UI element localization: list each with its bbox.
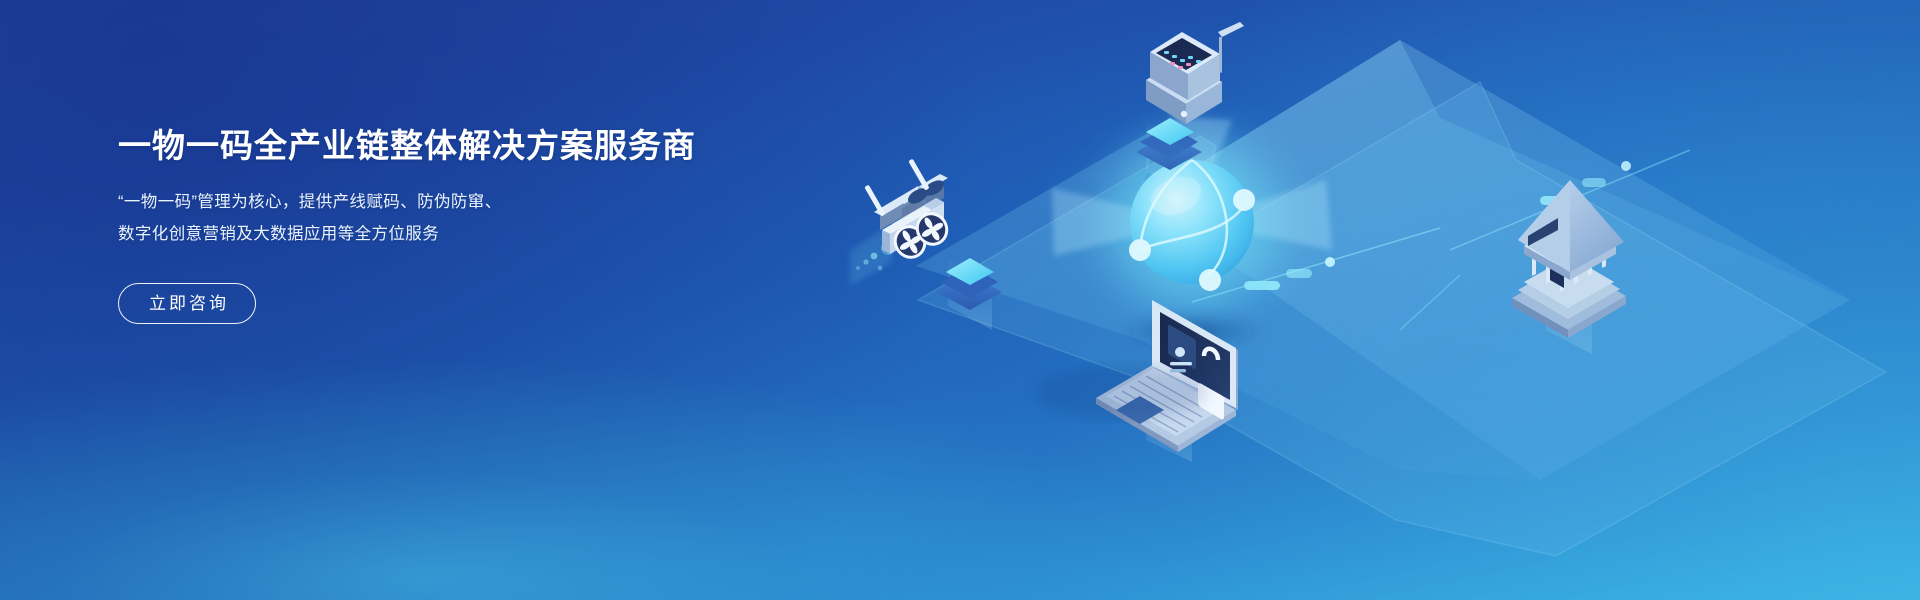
hero-subtitle-line-2: 数字化创意营销及大数据应用等全方位服务 xyxy=(118,218,758,250)
consult-now-button[interactable]: 立即咨询 xyxy=(118,283,256,324)
isometric-platform xyxy=(916,40,1886,556)
hero-copy-block: 一物一码全产业链整体解决方案服务商 “一物一码”管理为核心，提供产线赋码、防伪防… xyxy=(118,125,758,324)
cta-container: 立即咨询 xyxy=(118,283,758,324)
page-title: 一物一码全产业链整体解决方案服务商 xyxy=(118,125,758,166)
isometric-iot-network-illustration xyxy=(840,0,1920,600)
hero-subtitle-line-1: “一物一码”管理为核心，提供产线赋码、防伪防窜、 xyxy=(118,186,758,218)
hero-banner: 一物一码全产业链整体解决方案服务商 “一物一码”管理为核心，提供产线赋码、防伪防… xyxy=(0,0,1920,600)
